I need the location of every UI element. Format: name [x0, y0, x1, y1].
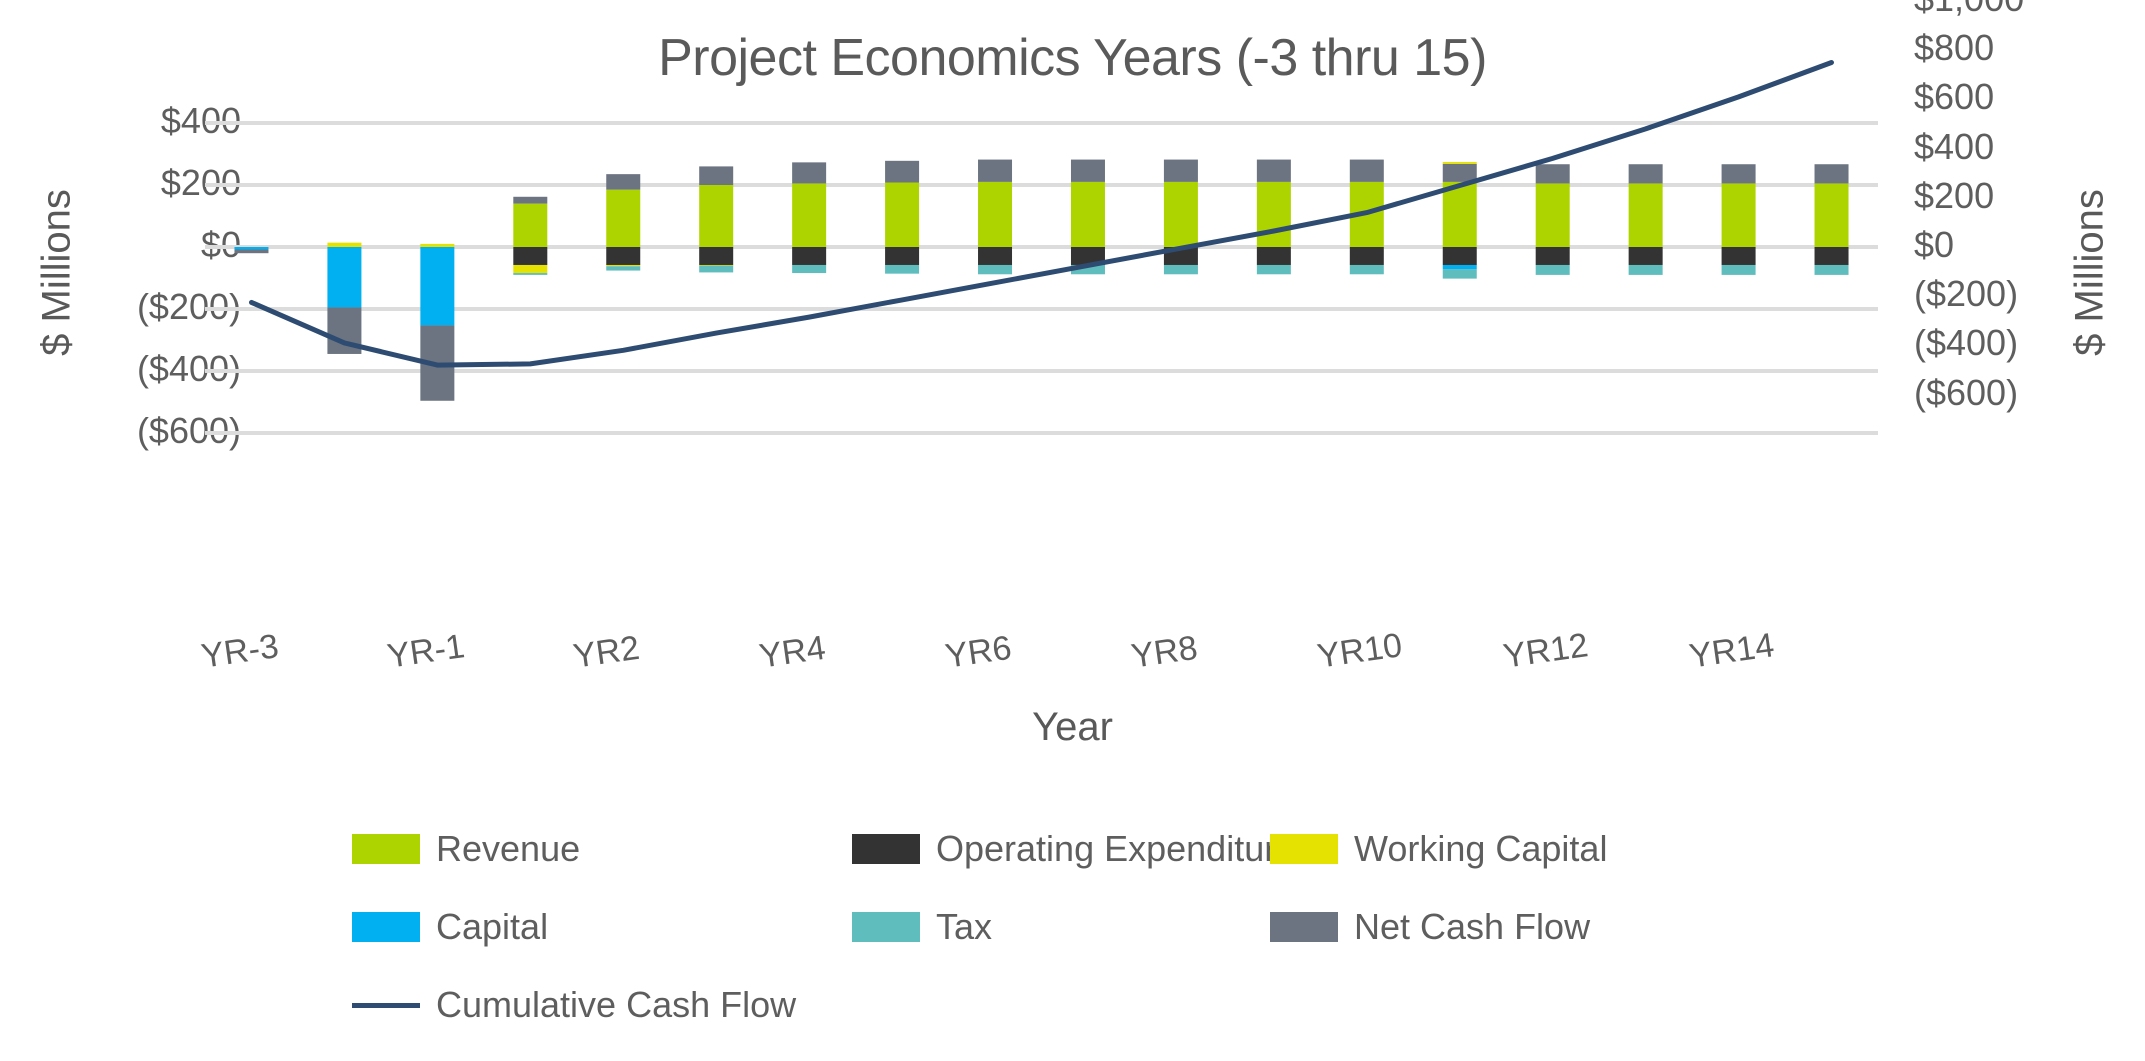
bar-segment	[1536, 265, 1570, 275]
bar-group	[1071, 160, 1105, 275]
bar-segment	[1257, 265, 1291, 274]
bar-group	[1257, 160, 1291, 275]
bar-segment	[606, 174, 640, 190]
bar-segment	[1071, 182, 1105, 247]
legend-item-cumulative-cash-flow[interactable]: Cumulative Cash Flow	[352, 984, 852, 1026]
bar-segment	[885, 183, 919, 247]
legend-label-capital: Capital	[436, 906, 548, 948]
bar-segment	[699, 166, 733, 185]
legend-row-1: Revenue Operating Expenditure Working Ca…	[352, 810, 1752, 888]
bar-segment	[513, 197, 547, 204]
bar-segment	[792, 162, 826, 183]
bar-segment	[606, 265, 640, 266]
legend-row-3: Cumulative Cash Flow	[352, 966, 1752, 1044]
legend-item-operating-expenditure[interactable]: Operating Expenditure	[852, 828, 1270, 870]
bar-segment	[513, 204, 547, 247]
bar-group	[1815, 164, 1849, 275]
legend-label-tax: Tax	[936, 906, 992, 948]
legend-swatch-net-cash-flow	[1270, 912, 1338, 942]
legend-label-net-cash-flow: Net Cash Flow	[1354, 906, 1590, 948]
bar-segment	[699, 266, 733, 273]
legend-swatch-working-capital	[1270, 834, 1338, 864]
legend-swatch-operating-expenditure	[852, 834, 920, 864]
legend-label-revenue: Revenue	[436, 828, 580, 870]
bar-segment	[1722, 164, 1756, 183]
bar-segment	[978, 182, 1012, 247]
bar-group	[234, 247, 268, 253]
cumulative-cash-flow-line	[252, 63, 1832, 366]
bar-segment	[1629, 164, 1663, 183]
bar-segment	[1350, 247, 1384, 265]
bar-group	[513, 197, 547, 275]
bar-segment	[1257, 182, 1291, 247]
legend-swatch-tax	[852, 912, 920, 942]
bar-segment	[513, 247, 547, 265]
bar-segment	[1350, 265, 1384, 274]
bar-segment	[978, 265, 1012, 274]
bar-segment	[1071, 160, 1105, 182]
bar-segment	[792, 265, 826, 273]
bar-segment	[1164, 160, 1198, 182]
legend-item-tax[interactable]: Tax	[852, 906, 1270, 948]
bar-segment	[1815, 247, 1849, 265]
bar-segment	[1629, 265, 1663, 275]
bar-segment	[978, 160, 1012, 182]
legend-row-2: Capital Tax Net Cash Flow	[352, 888, 1752, 966]
bar-segment	[420, 244, 454, 247]
bar-segment	[1443, 269, 1477, 278]
legend-item-working-capital[interactable]: Working Capital	[1270, 828, 1690, 870]
bar-group	[885, 161, 919, 274]
bar-segment	[699, 247, 733, 265]
legend-label-cumulative-cash-flow: Cumulative Cash Flow	[436, 984, 796, 1026]
chart-root: Project Economics Years (-3 thru 15) $ M…	[0, 0, 2145, 1061]
bar-segment	[234, 249, 268, 253]
legend-swatch-cumulative-cash-flow	[352, 1003, 420, 1008]
bar-segment	[978, 247, 1012, 265]
bar-segment	[1536, 164, 1570, 183]
bar-segment	[1443, 265, 1477, 269]
bar-segment	[1536, 247, 1570, 265]
bar-segment	[1629, 183, 1663, 247]
bar-group	[420, 244, 454, 401]
legend-item-net-cash-flow[interactable]: Net Cash Flow	[1270, 906, 1690, 948]
bar-segment	[1722, 265, 1756, 275]
chart-legend: Revenue Operating Expenditure Working Ca…	[352, 810, 1752, 1044]
bar-segment	[1536, 183, 1570, 247]
bar-segment	[1443, 162, 1477, 164]
bar-segment	[1815, 183, 1849, 247]
bar-segment	[606, 266, 640, 270]
legend-swatch-capital	[352, 912, 420, 942]
bar-segment	[513, 273, 547, 275]
legend-label-operating-expenditure: Operating Expenditure	[936, 828, 1296, 870]
bar-segment	[606, 247, 640, 265]
bar-group	[1629, 164, 1663, 275]
bar-group	[1536, 164, 1570, 275]
bar-segment	[792, 247, 826, 265]
legend-label-working-capital: Working Capital	[1354, 828, 1607, 870]
bar-segment	[234, 247, 268, 249]
bar-segment	[1629, 247, 1663, 265]
bar-segment	[513, 265, 547, 273]
bar-segment	[1815, 164, 1849, 183]
bar-segment	[1164, 265, 1198, 274]
bar-segment	[699, 185, 733, 247]
bar-group	[606, 174, 640, 270]
bar-segment	[606, 190, 640, 247]
bar-segment	[885, 265, 919, 274]
bar-segment	[1257, 160, 1291, 182]
bar-segment	[327, 247, 361, 307]
bar-segment	[792, 183, 826, 247]
legend-item-revenue[interactable]: Revenue	[352, 828, 852, 870]
bar-segment	[1443, 182, 1477, 247]
bar-group	[1164, 160, 1198, 275]
bar-group	[699, 166, 733, 272]
bar-segment	[885, 247, 919, 265]
bar-segment	[1722, 247, 1756, 265]
bar-segment	[1350, 160, 1384, 182]
bar-segment	[1443, 247, 1477, 265]
legend-item-capital[interactable]: Capital	[352, 906, 852, 948]
bar-segment	[1815, 265, 1849, 275]
bar-group	[1722, 164, 1756, 275]
bar-segment	[885, 161, 919, 183]
bar-segment	[1164, 182, 1198, 247]
bar-segment	[1722, 183, 1756, 247]
bar-segment	[1443, 164, 1477, 182]
bar-segment	[1257, 247, 1291, 265]
legend-swatch-revenue	[352, 834, 420, 864]
bar-group	[978, 160, 1012, 275]
bar-segment	[420, 247, 454, 325]
bar-segment	[327, 243, 361, 247]
bar-group	[792, 162, 826, 273]
